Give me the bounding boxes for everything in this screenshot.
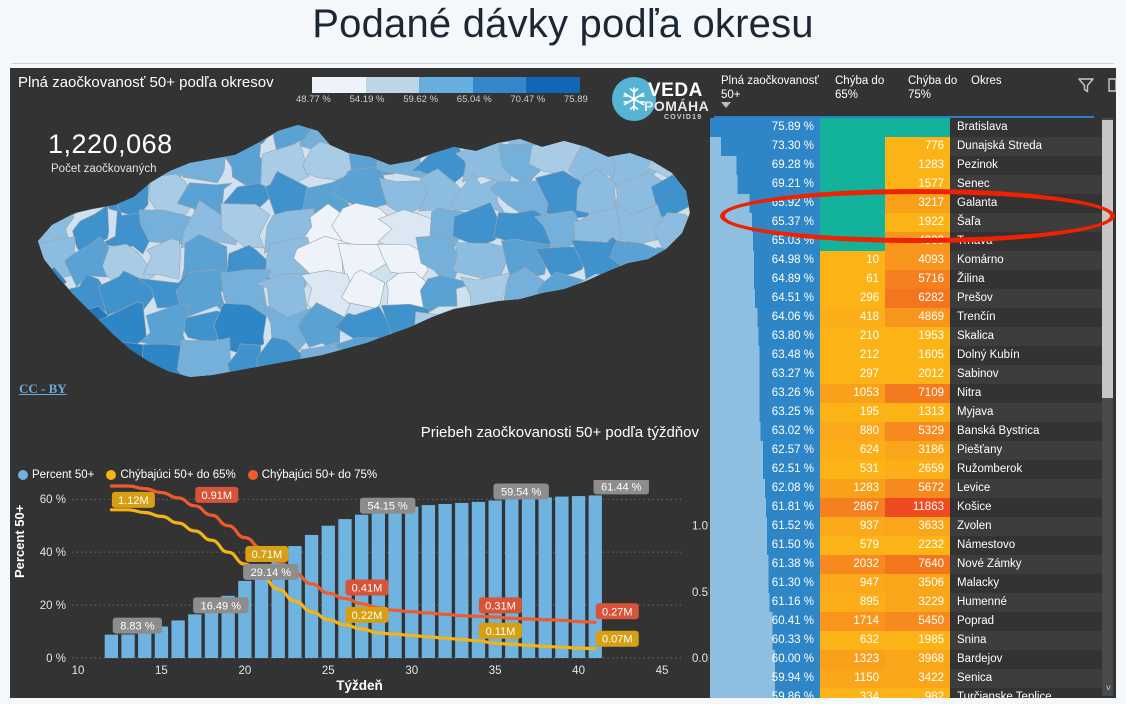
map-district[interactable]: [616, 308, 661, 352]
table-row[interactable]: 61.50 %5792232Námestovo: [710, 536, 1103, 555]
svg-text:29.14 %: 29.14 %: [251, 567, 292, 579]
data-label: 29.14 %: [243, 564, 298, 580]
cell-full-vaccination: 62.57 %: [710, 441, 820, 460]
cell-full-vaccination: 64.89 %: [710, 270, 820, 289]
x-axis-ticks: 1015202530354045: [72, 665, 669, 677]
table-row[interactable]: 61.16 %8953229Humenné: [710, 593, 1103, 612]
cell-full-vaccination: 61.81 %: [710, 498, 820, 517]
svg-text:0.31M: 0.31M: [485, 600, 516, 612]
cell-district: Nové Zámky: [950, 555, 1103, 574]
title-divider: [12, 63, 1114, 64]
cell-district: Sabinov: [950, 365, 1103, 384]
data-label: 8.83 %: [113, 618, 162, 634]
svg-text:1.0M: 1.0M: [692, 521, 709, 533]
cell-district: Bratislava: [950, 118, 1103, 137]
cell-district: Levice: [950, 479, 1103, 498]
cell-missing-75: 4093: [885, 251, 950, 270]
bar[interactable]: [255, 570, 268, 658]
cell-missing-65: 880: [820, 422, 885, 441]
svg-text:0 %: 0 %: [46, 653, 66, 665]
table-row[interactable]: 63.48 %2121605Dolný Kubín: [710, 346, 1103, 365]
map-district[interactable]: [652, 247, 700, 287]
cell-district: Galanta: [950, 194, 1103, 213]
cell-full-vaccination: 60.33 %: [710, 631, 820, 650]
cell-district: Poprad: [950, 612, 1103, 631]
map-district[interactable]: [463, 113, 517, 144]
cell-full-vaccination: 65.03 %: [710, 232, 820, 251]
data-label: 1.12M: [112, 492, 155, 508]
bar[interactable]: [188, 614, 201, 658]
cell-missing-75: 5672: [885, 479, 950, 498]
map-district[interactable]: [335, 113, 390, 154]
cell-missing-65: 1150: [820, 669, 885, 688]
bar[interactable]: [522, 498, 535, 658]
map-district[interactable]: [68, 113, 118, 155]
cell-full-vaccination: 61.16 %: [710, 593, 820, 612]
svg-text:0.71M: 0.71M: [252, 549, 283, 561]
combo-chart-plot[interactable]: 0 %20 %40 %60 % 0.0M0.5M1.0M 10152025303…: [10, 480, 709, 680]
data-label: 0.71M: [245, 546, 288, 562]
bar[interactable]: [171, 620, 184, 658]
cell-missing-65: 61: [820, 270, 885, 289]
map-district[interactable]: [616, 337, 668, 377]
table-row[interactable]: 63.25 %1951313Myjava: [710, 403, 1103, 422]
table-row[interactable]: 65.03 %4933Trnava: [710, 232, 1103, 251]
legend-dot-icon: [248, 470, 258, 480]
cell-missing-75: [885, 118, 950, 137]
cell-missing-65: 1323: [820, 650, 885, 669]
cell-full-vaccination: 61.50 %: [710, 536, 820, 555]
svg-text:0.11M: 0.11M: [486, 626, 516, 638]
data-label: 0.22M: [345, 607, 388, 623]
svg-text:40 %: 40 %: [40, 547, 66, 559]
cell-missing-75: 1985: [885, 631, 950, 650]
table-row[interactable]: 75.89 %Bratislava: [710, 118, 1103, 137]
map-district[interactable]: [30, 139, 77, 177]
color-scale-segment-0: [312, 77, 366, 93]
cell-missing-65: 297: [820, 365, 885, 384]
cell-full-vaccination: 69.28 %: [710, 156, 820, 175]
map-district[interactable]: [464, 348, 510, 387]
map-title: Plná zaočkovanosť 50+ podľa okresov: [18, 74, 274, 91]
cell-district: Trenčín: [950, 308, 1103, 327]
table-row[interactable]: 59.86 %334982Turčianske Teplice: [710, 688, 1103, 698]
map-district[interactable]: [68, 139, 120, 183]
cell-district: Senec: [950, 175, 1103, 194]
cell-missing-65: [820, 137, 885, 156]
cell-missing-65: 1053: [820, 384, 885, 403]
cell-missing-75: 1313: [885, 403, 950, 422]
cell-missing-65: [820, 175, 885, 194]
color-scale-bar: [312, 77, 580, 93]
svg-text:8.83 %: 8.83 %: [120, 621, 154, 633]
cell-district: Myjava: [950, 403, 1103, 422]
cell-missing-75: 11863: [885, 498, 950, 517]
cell-missing-65: 579: [820, 536, 885, 555]
map-district[interactable]: [30, 307, 75, 352]
cell-district: Ružomberok: [950, 460, 1103, 479]
cell-district: Trnava: [950, 232, 1103, 251]
data-label: 54.15 %: [360, 498, 415, 514]
y-axis-ticks-right: 0.0M0.5M1.0M: [692, 521, 709, 665]
map-district[interactable]: [104, 113, 154, 152]
cell-missing-65: 418: [820, 308, 885, 327]
cell-full-vaccination: 63.26 %: [710, 384, 820, 403]
cell-district: Snina: [950, 631, 1103, 650]
map-district[interactable]: [182, 144, 226, 183]
svg-text:20 %: 20 %: [40, 600, 66, 612]
cell-full-vaccination: 63.80 %: [710, 327, 820, 346]
map-district[interactable]: [504, 338, 555, 390]
cell-full-vaccination: 63.48 %: [710, 346, 820, 365]
cell-missing-65: 624: [820, 441, 885, 460]
map-district[interactable]: [372, 342, 427, 387]
bar[interactable]: [121, 634, 134, 658]
map-district[interactable]: [415, 340, 472, 382]
cell-district: Dolný Kubín: [950, 346, 1103, 365]
cell-missing-75: 3217: [885, 194, 950, 213]
map-district[interactable]: [30, 342, 75, 383]
cell-district: Dunajská Streda: [950, 137, 1103, 156]
cell-missing-65: [820, 118, 885, 137]
cell-missing-75: 3968: [885, 650, 950, 669]
cell-district: Turčianske Teplice: [950, 688, 1103, 698]
cell-district: Nitra: [950, 384, 1103, 403]
map-district[interactable]: [533, 305, 585, 342]
svg-text:20: 20: [238, 665, 251, 677]
data-label: 0.27M: [596, 603, 639, 619]
data-label: 0.11M: [479, 623, 522, 639]
cell-full-vaccination: 63.25 %: [710, 403, 820, 422]
cell-missing-75: 7640: [885, 555, 950, 574]
bar[interactable]: [438, 504, 451, 658]
cell-district: Pezinok: [950, 156, 1103, 175]
color-scale-tick: 59.62 %: [403, 94, 438, 105]
cell-missing-65: 937: [820, 517, 885, 536]
timeseries-chart-card: Priebeh zaočkovanosti 50+ podľa týždňov …: [10, 408, 709, 698]
cell-missing-65: [820, 232, 885, 251]
table-row[interactable]: 73.30 %776Dunajská Streda: [710, 137, 1103, 156]
data-label: 0.07M: [596, 631, 639, 647]
cell-district: Šaľa: [950, 213, 1103, 232]
table-row[interactable]: 60.00 %13233968Bardejov: [710, 650, 1103, 669]
focus-mode-icon[interactable]: [1106, 75, 1116, 95]
map-district[interactable]: [580, 306, 635, 353]
cell-missing-65: 632: [820, 631, 885, 650]
dashboard-panel: Plná zaočkovanosť 50+ podľa okresov 48.7…: [10, 68, 1116, 698]
svg-text:40: 40: [572, 665, 585, 677]
cell-full-vaccination: 64.06 %: [710, 308, 820, 327]
table-row[interactable]: 65.92 %3217Galanta: [710, 194, 1103, 213]
cell-missing-65: 895: [820, 593, 885, 612]
color-scale-tick: 65.04 %: [457, 94, 492, 105]
table-row[interactable]: 60.41 %17145450Poprad: [710, 612, 1103, 631]
map-district[interactable]: [659, 113, 696, 146]
cell-missing-75: 2659: [885, 460, 950, 479]
data-label: 0.31M: [479, 597, 522, 613]
filter-icon[interactable]: [1076, 75, 1096, 95]
map-district[interactable]: [653, 312, 700, 356]
table-scrollbar-thumb[interactable]: [1102, 120, 1113, 398]
table-row[interactable]: 64.98 %104093Komárno: [710, 251, 1103, 270]
table-row[interactable]: 63.26 %10537109Nitra: [710, 384, 1103, 403]
cell-district: Skalica: [950, 327, 1103, 346]
cell-missing-75: 3229: [885, 593, 950, 612]
sort-descending-icon[interactable]: [721, 102, 731, 108]
table-row[interactable]: 61.38 %20327640Nové Zámky: [710, 555, 1103, 574]
table-row[interactable]: 61.30 %9473506Malacky: [710, 574, 1103, 593]
svg-text:61.44 %: 61.44 %: [601, 481, 642, 493]
bar[interactable]: [539, 497, 552, 658]
bar[interactable]: [138, 633, 151, 658]
cell-full-vaccination: 61.52 %: [710, 517, 820, 536]
cell-missing-75: 3186: [885, 441, 950, 460]
cell-district: Zvolen: [950, 517, 1103, 536]
map-district[interactable]: [608, 277, 666, 321]
cell-district: Žilina: [950, 270, 1103, 289]
x-axis-label: Týždeň: [10, 678, 709, 693]
cell-missing-65: [820, 156, 885, 175]
table-row[interactable]: 69.28 %1283Pezinok: [710, 156, 1103, 175]
map-district[interactable]: [301, 343, 357, 385]
cell-full-vaccination: 62.08 %: [710, 479, 820, 498]
bar-series: [105, 495, 602, 658]
table-row[interactable]: 60.33 %6321985Snina: [710, 631, 1103, 650]
cell-missing-75: 2232: [885, 536, 950, 555]
cell-missing-65: [820, 194, 885, 213]
svg-text:0.5M: 0.5M: [692, 587, 709, 599]
bar[interactable]: [455, 503, 468, 658]
data-label: 16.49 %: [193, 597, 248, 613]
svg-text:0.41M: 0.41M: [352, 582, 383, 594]
cell-missing-65: 531: [820, 460, 885, 479]
cell-missing-75: 3633: [885, 517, 950, 536]
cell-district: Prešov: [950, 289, 1103, 308]
data-label: 0.41M: [345, 579, 388, 595]
map-district[interactable]: [177, 338, 236, 384]
cell-missing-65: 1714: [820, 612, 885, 631]
table-body[interactable]: 75.89 %Bratislava73.30 %776Dunajská Stre…: [710, 118, 1103, 698]
color-scale-tick: 54.19 %: [350, 94, 385, 105]
cell-missing-75: 3422: [885, 669, 950, 688]
cell-missing-75: 5329: [885, 422, 950, 441]
color-scale-segment-4: [526, 77, 580, 93]
cell-missing-65: 10: [820, 251, 885, 270]
cell-missing-75: 1922: [885, 213, 950, 232]
bar[interactable]: [105, 635, 118, 658]
map-district[interactable]: [141, 113, 189, 156]
map-district[interactable]: [572, 342, 631, 389]
cell-full-vaccination: 63.27 %: [710, 365, 820, 384]
cell-missing-75: 6282: [885, 289, 950, 308]
districts-table-card: Plná zaočkovanosť 50+ Chýba do 65% Chýba…: [710, 68, 1116, 698]
table-row[interactable]: 65.37 %1922Šaľa: [710, 213, 1103, 232]
cell-missing-65: 2032: [820, 555, 885, 574]
cell-district: Komárno: [950, 251, 1103, 270]
table-row[interactable]: 61.52 %9373633Zvolen: [710, 517, 1103, 536]
map-district[interactable]: [30, 176, 79, 213]
cell-full-vaccination: 60.00 %: [710, 650, 820, 669]
cell-full-vaccination: 65.92 %: [710, 194, 820, 213]
bar[interactable]: [305, 535, 318, 658]
svg-text:54.15 %: 54.15 %: [367, 501, 408, 513]
color-scale-tick: 70.47 %: [510, 94, 545, 105]
cell-missing-75: 1953: [885, 327, 950, 346]
column-header-district[interactable]: Okres: [971, 74, 1061, 88]
svg-text:0.27M: 0.27M: [602, 606, 633, 618]
cell-full-vaccination: 63.02 %: [710, 422, 820, 441]
scroll-down-icon[interactable]: ˅: [1106, 684, 1111, 693]
cell-missing-75: 4869: [885, 308, 950, 327]
color-scale-ticks: 48.77 %54.19 %59.62 %65.04 %70.47 %75.89: [308, 94, 608, 108]
table-row[interactable]: 59.94 %11503422Senica: [710, 669, 1103, 688]
cell-full-vaccination: 73.30 %: [710, 137, 820, 156]
y-axis-ticks-left: 0 %20 %40 %60 %: [40, 494, 66, 665]
map-district[interactable]: [576, 274, 633, 320]
cell-missing-65: [820, 213, 885, 232]
map-district[interactable]: [652, 347, 700, 385]
table-header: Plná zaočkovanosť 50+ Chýba do 65% Chýba…: [710, 68, 1116, 115]
cell-district: Bardejov: [950, 650, 1103, 669]
table-row[interactable]: 62.51 %5312659Ružomberok: [710, 460, 1103, 479]
cell-full-vaccination: 62.51 %: [710, 460, 820, 479]
cell-full-vaccination: 65.37 %: [710, 213, 820, 232]
cell-missing-65: 1283: [820, 479, 885, 498]
cell-district: Banská Bystrica: [950, 422, 1103, 441]
cell-full-vaccination: 75.89 %: [710, 118, 820, 137]
cell-missing-75: 7109: [885, 384, 950, 403]
column-header-missing-75[interactable]: Chýba do 75%: [908, 74, 966, 102]
cell-missing-75: 776: [885, 137, 950, 156]
svg-text:10: 10: [72, 665, 85, 677]
column-header-full-vaccination[interactable]: Plná zaočkovanosť 50+: [721, 74, 826, 102]
map-district[interactable]: [414, 310, 462, 354]
bar[interactable]: [555, 497, 568, 658]
map-district[interactable]: [31, 113, 80, 154]
svg-text:59.54 %: 59.54 %: [501, 486, 542, 498]
logo-text-pomaha: POMÁHA: [644, 98, 709, 114]
svg-text:16.49 %: 16.49 %: [201, 600, 242, 612]
color-scale-tick: 48.77 %: [296, 94, 331, 105]
table-row[interactable]: 63.27 %2972012Sabinov: [710, 365, 1103, 384]
color-scale-segment-1: [366, 77, 420, 93]
cell-missing-75: 3506: [885, 574, 950, 593]
cell-missing-75: 1283: [885, 156, 950, 175]
map-district[interactable]: [494, 307, 546, 351]
svg-text:0.0M: 0.0M: [692, 653, 709, 665]
cell-missing-65: 334: [820, 688, 885, 698]
bar[interactable]: [238, 581, 251, 658]
table-row[interactable]: 62.57 %6243186Piešťany: [710, 441, 1103, 460]
svg-text:60 %: 60 %: [40, 494, 66, 506]
dashboard-page: Podané dávky podľa okresu Plná zaočkovan…: [0, 0, 1126, 704]
table-row[interactable]: 69.21 %1577Senec: [710, 175, 1103, 194]
svg-text:0.91M: 0.91M: [202, 490, 233, 502]
cell-full-vaccination: 59.86 %: [710, 688, 820, 698]
cell-district: Humenné: [950, 593, 1103, 612]
cell-full-vaccination: 60.41 %: [710, 612, 820, 631]
cell-missing-65: 296: [820, 289, 885, 308]
svg-text:30: 30: [405, 665, 418, 677]
cell-missing-65: 212: [820, 346, 885, 365]
map-district[interactable]: [649, 275, 701, 320]
cell-missing-75: 5450: [885, 612, 950, 631]
cell-missing-75: 4933: [885, 232, 950, 251]
page-title: Podané dávky podľa okresu: [0, 2, 1126, 47]
cell-full-vaccination: 59.94 %: [710, 669, 820, 688]
map-district[interactable]: [99, 142, 145, 187]
cell-full-vaccination: 61.38 %: [710, 555, 820, 574]
data-label: 61.44 %: [594, 480, 649, 494]
svg-text:25: 25: [322, 665, 335, 677]
data-label: 59.54 %: [493, 483, 548, 499]
cell-missing-65: 2867: [820, 498, 885, 517]
svg-text:35: 35: [489, 665, 502, 677]
map-district[interactable]: [66, 344, 113, 389]
map-district[interactable]: [335, 338, 392, 387]
svg-text:1.12M: 1.12M: [118, 495, 149, 507]
table-row[interactable]: 63.02 %8805329Banská Bystrica: [710, 422, 1103, 441]
cell-missing-75: 5716: [885, 270, 950, 289]
column-header-missing-65[interactable]: Chýba do 65%: [835, 74, 893, 102]
map-color-scale: 48.77 %54.19 %59.62 %65.04 %70.47 %75.89: [312, 77, 580, 108]
cell-full-vaccination: 64.98 %: [710, 251, 820, 270]
bar[interactable]: [205, 606, 218, 658]
cell-district: Malacky: [950, 574, 1103, 593]
color-scale-tick: 75.89: [564, 94, 588, 105]
slovakia-choropleth-map[interactable]: [30, 113, 700, 413]
cell-full-vaccination: 69.21 %: [710, 175, 820, 194]
table-row[interactable]: 64.06 %4184869Trenčín: [710, 308, 1103, 327]
map-district[interactable]: [615, 113, 670, 151]
cell-district: Košice: [950, 498, 1103, 517]
cell-district: Námestovo: [950, 536, 1103, 555]
cell-full-vaccination: 64.51 %: [710, 289, 820, 308]
map-district[interactable]: [544, 345, 586, 389]
svg-text:15: 15: [155, 665, 168, 677]
table-row[interactable]: 64.89 %615716Žilina: [710, 270, 1103, 289]
color-scale-segment-3: [473, 77, 527, 93]
data-label: 0.91M: [195, 487, 238, 503]
cell-district: Piešťany: [950, 441, 1103, 460]
table-row[interactable]: 64.51 %2966282Prešov: [710, 289, 1103, 308]
map-district[interactable]: [454, 306, 506, 344]
cell-missing-75: 982: [885, 688, 950, 698]
map-card: Plná zaočkovanosť 50+ podľa okresov 48.7…: [10, 68, 709, 433]
cell-full-vaccination: 61.30 %: [710, 574, 820, 593]
cell-missing-65: 947: [820, 574, 885, 593]
map-district[interactable]: [178, 113, 222, 149]
svg-text:45: 45: [656, 665, 669, 677]
svg-text:0.07M: 0.07M: [602, 634, 633, 646]
cell-district: Senica: [950, 669, 1103, 688]
cell-missing-75: 2012: [885, 365, 950, 384]
chart-title: Priebeh zaočkovanosti 50+ podľa týždňov: [421, 424, 699, 441]
legend-dot-icon: [18, 470, 28, 480]
legend-dot-icon: [106, 470, 116, 480]
table-row[interactable]: 61.81 %286711863Košice: [710, 498, 1103, 517]
table-row[interactable]: 63.80 %2101953Skalica: [710, 327, 1103, 346]
svg-text:0.22M: 0.22M: [352, 610, 383, 622]
cell-missing-65: 210: [820, 327, 885, 346]
cell-missing-65: 195: [820, 403, 885, 422]
bar[interactable]: [572, 496, 585, 658]
map-district[interactable]: [376, 113, 436, 154]
cell-missing-75: 1605: [885, 346, 950, 365]
color-scale-segment-2: [419, 77, 473, 93]
table-row[interactable]: 62.08 %12835672Levice: [710, 479, 1103, 498]
map-district[interactable]: [412, 113, 460, 153]
